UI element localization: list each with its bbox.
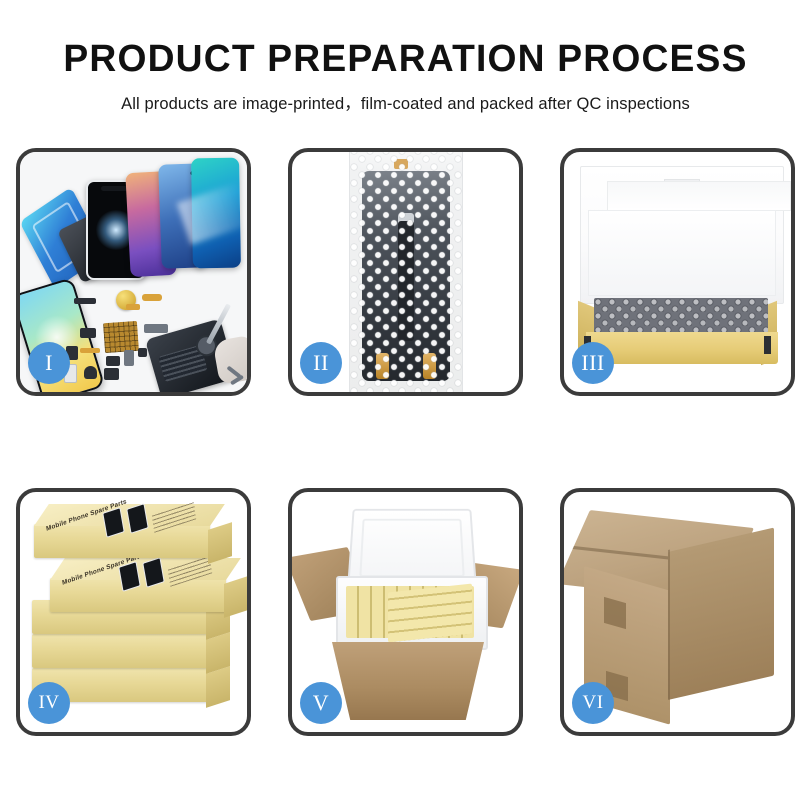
process-step-panel-4[interactable]: Mobile Phone Spare Parts Mobile Phone Sp…	[16, 488, 251, 736]
small-part	[104, 368, 119, 380]
small-part	[124, 350, 134, 366]
lid-inner-panel	[607, 181, 791, 211]
process-step-panel-3[interactable]: III	[560, 148, 795, 396]
small-part	[126, 304, 140, 310]
step-badge-3: III	[572, 342, 614, 384]
box-notch-right	[764, 336, 771, 354]
bubble-wrap-bag	[349, 152, 463, 392]
stacked-box-labeled: Mobile Phone Spare Parts	[34, 524, 210, 558]
yellow-boxes-row	[388, 584, 472, 643]
small-part	[138, 348, 147, 357]
process-step-panel-1[interactable]: I	[16, 148, 251, 396]
page-subtitle: All products are image-printed，film-coat…	[0, 90, 811, 114]
bubble-texture	[350, 152, 462, 392]
step-badge-1: I	[28, 342, 70, 384]
gold-chip-board	[103, 321, 139, 353]
small-part	[74, 298, 96, 304]
process-step-panel-5[interactable]: V	[288, 488, 523, 736]
step-badge-6: VI	[572, 682, 614, 724]
small-part	[142, 294, 162, 301]
process-step-panel-2[interactable]: II	[288, 148, 523, 396]
kraft-box-front	[586, 332, 778, 364]
stacked-box	[32, 634, 208, 668]
page-title: PRODUCT PREPARATION PROCESS	[8, 40, 803, 80]
page-header: PRODUCT PREPARATION PROCESS All products…	[0, 0, 811, 114]
process-step-panel-6[interactable]: VI	[560, 488, 795, 736]
box-side	[224, 576, 247, 618]
step-badge-2: II	[300, 342, 342, 384]
small-part	[80, 348, 100, 353]
small-part	[106, 356, 120, 366]
bubble-wrapped-contents	[594, 298, 768, 334]
white-inner-liner	[588, 210, 776, 296]
step-badge-4: IV	[28, 682, 70, 724]
small-part	[80, 328, 96, 338]
small-part	[84, 366, 97, 379]
stacked-box-labeled: Mobile Phone Spare Parts	[50, 578, 226, 612]
small-part	[144, 324, 168, 333]
teal-swirl-phone	[191, 158, 241, 269]
carton-front	[332, 642, 484, 720]
process-steps-grid: I II	[16, 148, 795, 736]
step-badge-5: V	[300, 682, 342, 724]
carton-right-face	[668, 528, 774, 700]
carton-corner-seam	[668, 550, 670, 700]
